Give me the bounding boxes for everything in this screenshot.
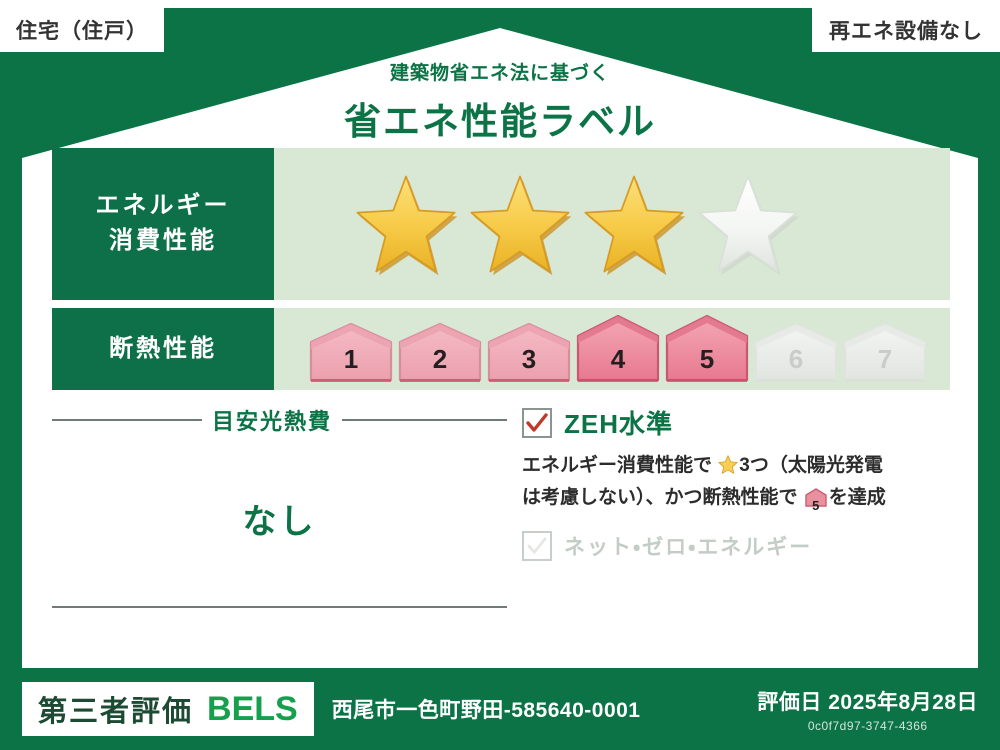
header-rule-left xyxy=(52,419,202,421)
evaluation-id: 0c0f7d97-3747-4366 xyxy=(757,719,978,733)
star-filled-icon xyxy=(580,172,688,276)
inline-house-badge-icon: 5 xyxy=(805,487,827,516)
property-address: 西尾市一色町野田-585640-0001 xyxy=(332,694,641,724)
utility-cost-value: なし xyxy=(52,494,507,543)
title-subtitle: 建築物省エネ法に基づく xyxy=(0,58,1000,85)
insulation-performance-label: 断熱性能 xyxy=(52,308,274,390)
bels-wordmark: BELS xyxy=(207,690,298,729)
insulation-level-inactive: 6 xyxy=(753,322,839,384)
zeh-section: ZEH水準 エネルギー消費性能で 3つ（太陽光発電 は考慮しない）、かつ断熱性能… xyxy=(514,404,950,561)
building-type-tag: 住宅（住戸） xyxy=(0,8,166,54)
insulation-level-active: 2 xyxy=(397,322,483,384)
zeh-description: エネルギー消費性能で 3つ（太陽光発電 は考慮しない）、かつ断熱性能で 5 を達… xyxy=(522,451,942,517)
insulation-level-scale: 1234567 xyxy=(308,314,928,384)
star-empty-icon xyxy=(694,172,802,276)
insulation-level-active: 5 xyxy=(664,314,750,384)
inline-house-number: 5 xyxy=(805,487,827,516)
utility-cost-bottom-rule xyxy=(52,606,507,608)
zeh-desc-part2: 3つ（太陽光発電 xyxy=(739,455,883,476)
utility-cost-title: 目安光熱費 xyxy=(212,404,332,436)
evaluation-date: 評価日 2025年8月28日 xyxy=(757,686,978,716)
net-zero-energy-label: ネット・ゼロ・エネルギー xyxy=(564,531,812,561)
insulation-level-active: 3 xyxy=(486,322,572,384)
star-filled-icon xyxy=(352,172,460,276)
inline-star-icon xyxy=(718,454,738,483)
energy-label-line1: エネルギー xyxy=(96,189,231,224)
zeh-desc-part4: を達成 xyxy=(829,487,886,508)
utility-cost-header: 目安光熱費 xyxy=(52,404,507,436)
evaluation-date-block: 評価日 2025年8月28日 0c0f7d97-3747-4366 xyxy=(757,686,978,733)
net-zero-checkbox[interactable] xyxy=(522,531,552,561)
zeh-checkbox[interactable] xyxy=(522,408,552,438)
energy-performance-body xyxy=(274,148,950,300)
header-rule-right xyxy=(342,419,507,421)
utility-cost-section: 目安光熱費 なし xyxy=(52,404,514,561)
insulation-performance-row: 断熱性能 1234567 xyxy=(52,308,950,390)
energy-performance-label: エネルギー 消費性能 xyxy=(52,148,274,300)
energy-label-line2: 消費性能 xyxy=(109,224,217,259)
label-footer: 第三者評価 BELS 西尾市一色町野田-585640-0001 評価日 2025… xyxy=(0,668,1000,750)
insulation-level-inactive: 7 xyxy=(842,322,928,384)
zeh-header: ZEH水準 xyxy=(522,404,950,441)
energy-performance-row: エネルギー 消費性能 xyxy=(52,148,950,300)
third-party-eval-text: 第三者評価 xyxy=(38,688,193,730)
zeh-desc-part1: エネルギー消費性能で xyxy=(522,455,712,476)
renewable-equipment-tag: 再エネ設備なし xyxy=(810,8,1000,54)
insulation-level-active: 1 xyxy=(308,322,394,384)
star-filled-icon xyxy=(466,172,574,276)
net-zero-energy-row: ネット・ゼロ・エネルギー xyxy=(522,531,950,561)
insulation-performance-body: 1234567 xyxy=(274,308,950,390)
insulation-level-active: 4 xyxy=(575,314,661,384)
zeh-desc-part3: は考慮しない）、かつ断熱性能で xyxy=(522,487,798,508)
zeh-title: ZEH水準 xyxy=(564,404,673,441)
title-main: 省エネ性能ラベル xyxy=(0,91,1000,145)
bels-logo-box: 第三者評価 BELS xyxy=(22,682,314,736)
star-rating xyxy=(352,172,802,276)
bels-energy-label: 住宅（住戸） 再エネ設備なし 建築物省エネ法に基づく 省エネ性能ラベル エネルギ… xyxy=(0,0,1000,750)
lower-section: 目安光熱費 なし ZEH水準 エネルギー消費性能で xyxy=(52,404,950,561)
label-title-block: 建築物省エネ法に基づく 省エネ性能ラベル xyxy=(0,58,1000,145)
performance-rows: エネルギー 消費性能 断熱性能 1234567 xyxy=(52,148,950,398)
